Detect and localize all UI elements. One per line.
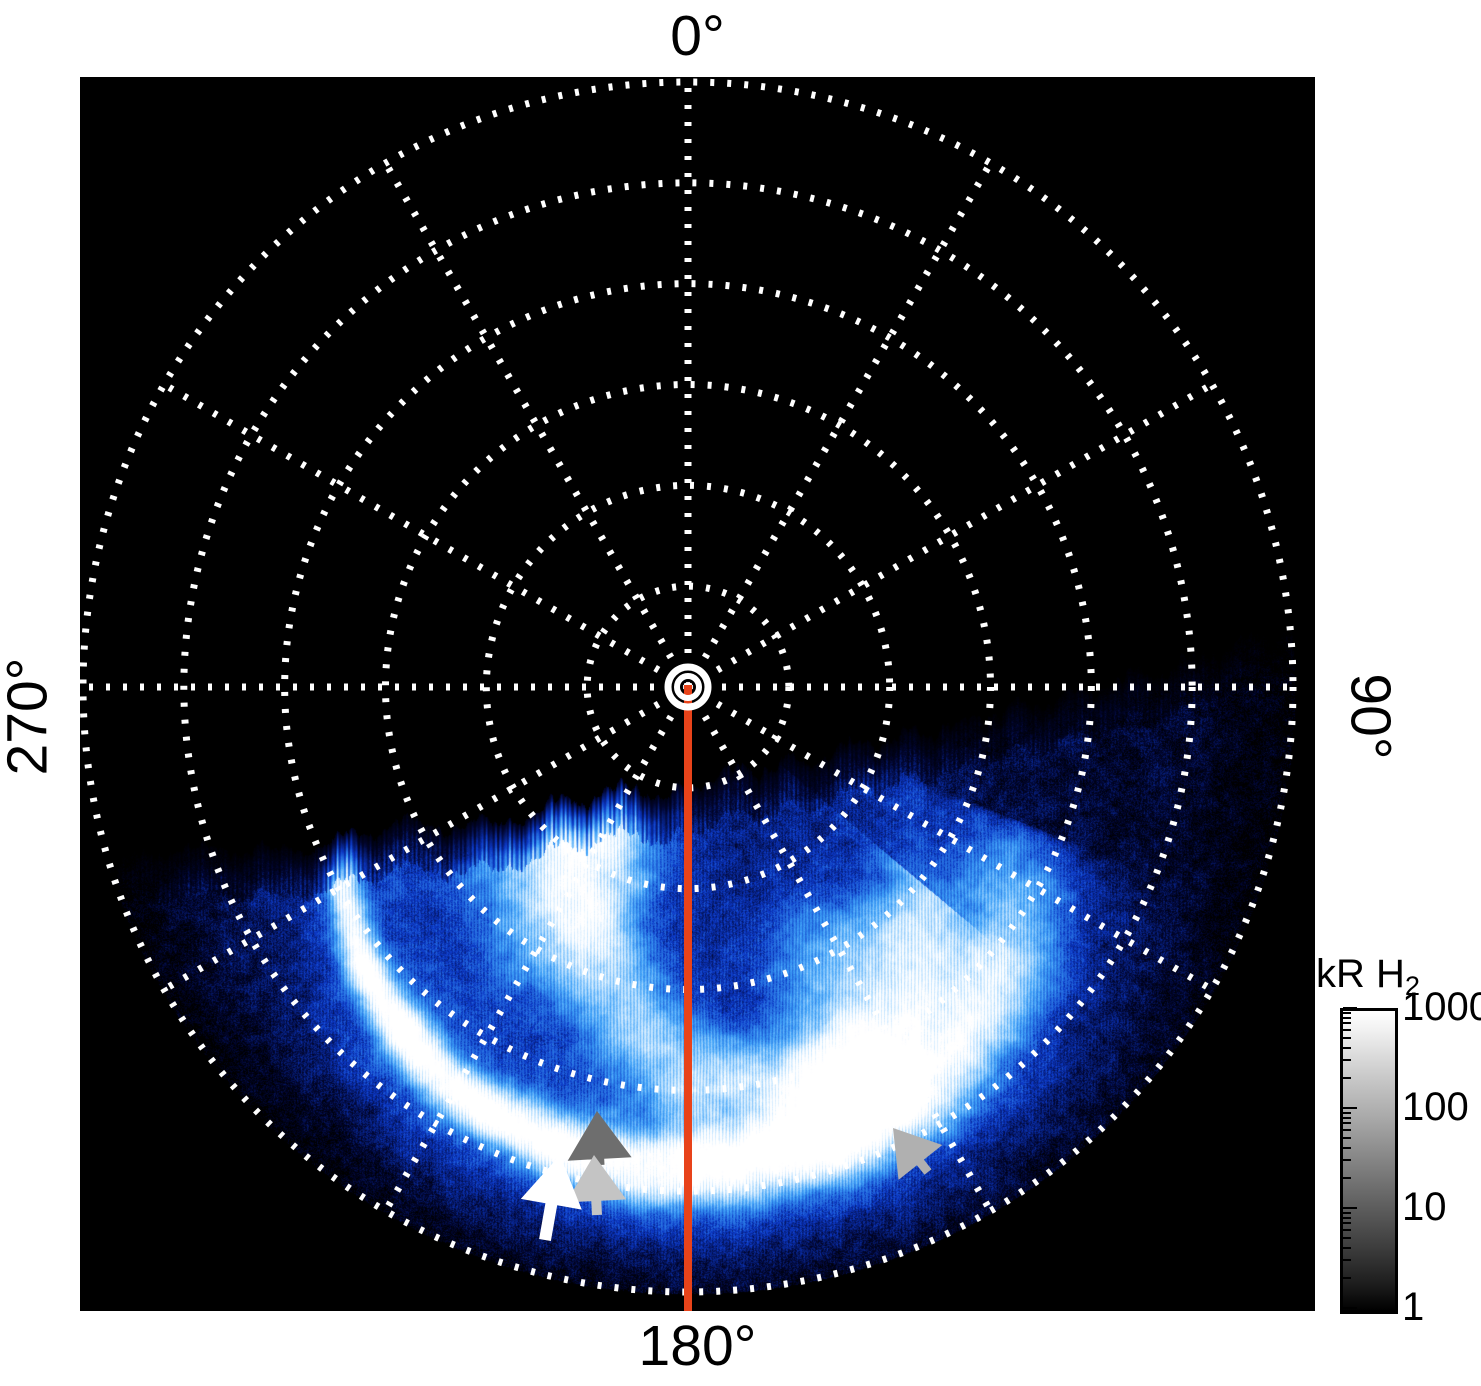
colorbar-tick xyxy=(1343,1237,1351,1239)
colorbar-tick xyxy=(1222,1177,1230,1179)
colorbar-tick xyxy=(1343,1222,1351,1224)
colorbar-tick xyxy=(1343,1059,1351,1061)
colorbar-tick xyxy=(1222,1017,1230,1019)
colorbar-tick xyxy=(1216,1107,1230,1109)
colorbar-tick xyxy=(1222,1029,1230,1031)
colorbar-tick xyxy=(1222,1147,1230,1149)
colorbar-tick xyxy=(1222,1012,1230,1014)
colorbar-tick xyxy=(1222,1022,1230,1024)
colorbar-tick xyxy=(1222,1229,1230,1231)
colorbar-tick xyxy=(1343,1129,1351,1131)
colorbar-tick xyxy=(1222,1037,1230,1039)
colorbar-tick-label: 100 xyxy=(1402,1087,1469,1127)
arrow-white xyxy=(521,1155,582,1241)
colorbar-tick xyxy=(1343,1077,1351,1079)
grid-spoke xyxy=(386,163,689,687)
colorbar-tick xyxy=(1222,1047,1230,1049)
colorbar-tick xyxy=(1216,1007,1230,1009)
grid-spoke xyxy=(386,687,689,1211)
colorbar-tick xyxy=(1343,1259,1351,1261)
polar-grid-overlay xyxy=(80,77,1315,1311)
colorbar-tick xyxy=(1343,1017,1351,1019)
annotation-arrows xyxy=(521,1111,943,1241)
grid-spoke xyxy=(164,687,688,990)
colorbar-tick xyxy=(1343,1107,1357,1109)
colorbar-tick xyxy=(1343,1112,1351,1114)
colorbar-tick xyxy=(1222,1129,1230,1131)
colorbar-tick xyxy=(1343,1207,1357,1209)
colorbar-tick xyxy=(1222,1117,1230,1119)
colorbar-tick-label: 10 xyxy=(1402,1187,1447,1227)
colorbar-tick xyxy=(1222,1112,1230,1114)
colorbar-tick xyxy=(1343,1307,1357,1309)
grid-spoke xyxy=(688,687,1212,990)
colorbar-tick xyxy=(1343,1177,1351,1179)
colorbar-tick xyxy=(1222,1212,1230,1214)
arrow-dark-gray xyxy=(568,1111,632,1165)
colorbar-tick xyxy=(1216,1307,1230,1309)
colorbar-tick xyxy=(1343,1007,1357,1009)
colorbar-tick xyxy=(1216,1207,1230,1209)
colorbar-tick xyxy=(1222,1059,1230,1061)
colorbar-tick xyxy=(1343,1029,1351,1031)
colorbar-tick xyxy=(1343,1277,1351,1279)
colorbar-tick xyxy=(1222,1137,1230,1139)
colorbar-tick xyxy=(1222,1159,1230,1161)
colorbar-tick xyxy=(1343,1147,1351,1149)
colorbar-tick xyxy=(1343,1159,1351,1161)
colorbar-tick xyxy=(1222,1259,1230,1261)
colorbar-tick-label: 1000 xyxy=(1402,987,1481,1027)
arrow-gray-right xyxy=(893,1128,942,1180)
colorbar-tick xyxy=(1343,1012,1351,1014)
figure-root: 0° 180° 270° 90° kR H2 1000100101 xyxy=(0,0,1481,1386)
grid-spoke xyxy=(688,385,1212,688)
colorbar-tick xyxy=(1222,1122,1230,1124)
colorbar-tick xyxy=(1222,1247,1230,1249)
colorbar-title-main: kR H xyxy=(1316,952,1405,996)
axis-label-left: 270° xyxy=(0,637,57,797)
colorbar-tick xyxy=(1222,1277,1230,1279)
colorbar-tick xyxy=(1222,1077,1230,1079)
colorbar-tick xyxy=(1222,1237,1230,1239)
colorbar-tick xyxy=(1343,1212,1351,1214)
grid-spoke xyxy=(688,687,991,1211)
axis-label-top: 0° xyxy=(0,8,1395,65)
axis-label-bottom: 180° xyxy=(0,1318,1395,1375)
colorbar-tick-label: 1 xyxy=(1402,1287,1424,1327)
colorbar-tick xyxy=(1343,1137,1351,1139)
colorbar-tick xyxy=(1343,1022,1351,1024)
colorbar-tick xyxy=(1343,1229,1351,1231)
colorbar-tick xyxy=(1343,1247,1351,1249)
colorbar-tick xyxy=(1222,1217,1230,1219)
polar-plot-area xyxy=(80,77,1315,1311)
colorbar-tick xyxy=(1343,1217,1351,1219)
colorbar-tick xyxy=(1222,1222,1230,1224)
axis-label-right: 90° xyxy=(1342,637,1399,797)
colorbar-tick xyxy=(1343,1047,1351,1049)
colorbar-tick xyxy=(1343,1122,1351,1124)
colorbar-tick xyxy=(1343,1037,1351,1039)
colorbar-tick xyxy=(1343,1117,1351,1119)
